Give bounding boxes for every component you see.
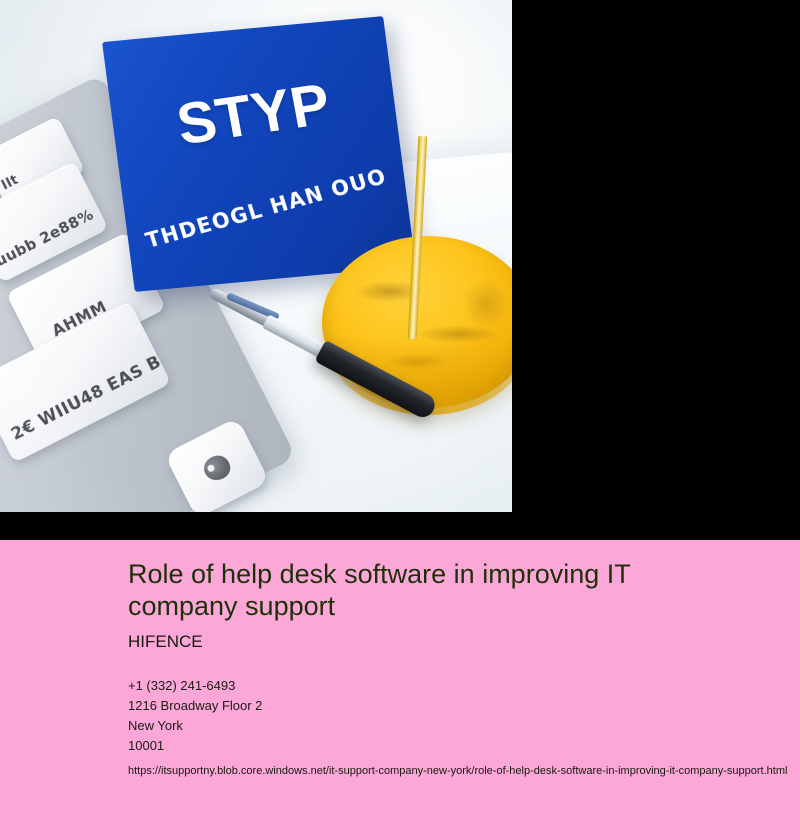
page-root: IIt uubb 2e88% AHMM 2€ WIIU48 EAS BTGP. … <box>0 0 800 840</box>
contact-city: New York <box>128 716 792 736</box>
contact-street: 1216 Broadway Floor 2 <box>128 696 792 716</box>
panel-content: Role of help desk software in improving … <box>128 558 792 779</box>
contact-zip: 10001 <box>128 736 792 756</box>
key-symbol-icon <box>200 451 234 484</box>
page-title: Role of help desk software in improving … <box>128 558 728 622</box>
article-info-panel: Role of help desk software in improving … <box>0 540 800 840</box>
contact-block: +1 (332) 241-6493 1216 Broadway Floor 2 … <box>128 676 792 756</box>
brand-name: HIFENCE <box>128 632 792 652</box>
article-hero-image: IIt uubb 2e88% AHMM 2€ WIIU48 EAS BTGP. … <box>0 0 512 512</box>
yellow-disc <box>322 236 512 408</box>
contact-phone[interactable]: +1 (332) 241-6493 <box>128 676 792 696</box>
source-url[interactable]: https://itsupportny.blob.core.windows.ne… <box>128 764 792 779</box>
sign-headline: STYP <box>172 70 336 158</box>
